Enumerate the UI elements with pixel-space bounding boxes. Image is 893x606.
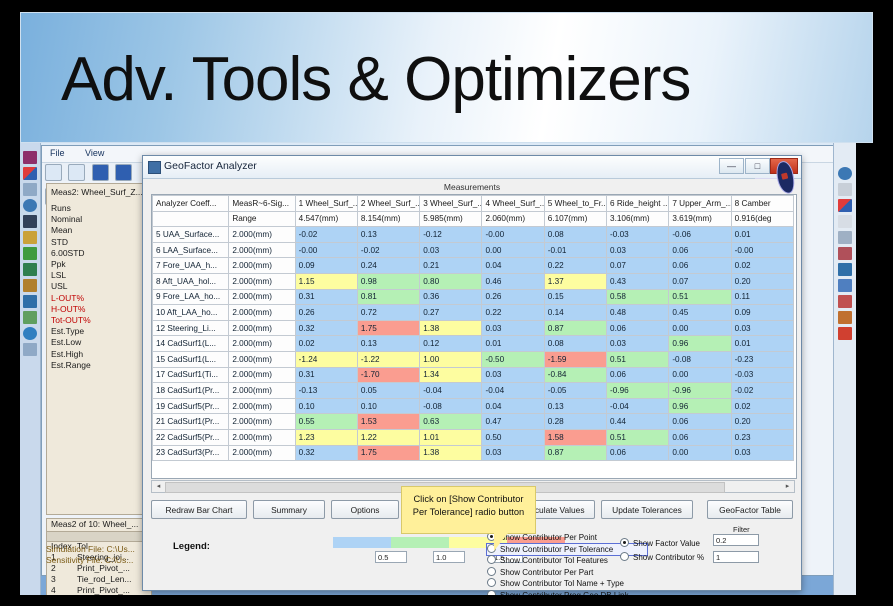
data-cell-1[interactable]: -0.02 xyxy=(357,242,419,258)
column-header-3[interactable]: 2 Wheel_Surf_... xyxy=(357,196,419,212)
callout-line-1: Click on [Show Contributor xyxy=(402,493,535,506)
data-cell-3[interactable]: 0.03 xyxy=(482,320,544,336)
rail-icon-wrench[interactable] xyxy=(23,343,37,356)
rail-icon-report[interactable] xyxy=(23,295,37,308)
data-cell-3[interactable]: 0.47 xyxy=(482,414,544,430)
row-label: 5 UAA_Surface... xyxy=(153,227,229,243)
filter-label: Filter xyxy=(733,525,750,534)
row-tol: Print_Pivot_... xyxy=(77,585,130,595)
data-cell-1[interactable]: 0.13 xyxy=(357,227,419,243)
radio-label: Show Contributor Per Part xyxy=(500,568,593,577)
row-range: 2.000(mm) xyxy=(229,273,295,289)
geofactor-analyzer-dialog: GeoFactor Analyzer — □ X Measurements An… xyxy=(142,155,802,591)
update-tolerances-button[interactable]: Update Tolerances xyxy=(601,500,693,519)
data-cell-4[interactable]: -0.84 xyxy=(544,367,606,383)
data-cell-6[interactable]: 0.07 xyxy=(669,273,731,289)
data-cell-4[interactable]: 0.15 xyxy=(544,289,606,305)
data-cell-3[interactable]: 0.46 xyxy=(482,273,544,289)
column-subheader-8: 3.619(mm) xyxy=(669,211,731,227)
data-cell-5[interactable]: 0.51 xyxy=(607,429,669,445)
row-range: 2.000(mm) xyxy=(229,289,295,305)
dialog-title: GeoFactor Analyzer xyxy=(164,160,257,172)
data-cell-6[interactable]: 0.45 xyxy=(669,305,731,321)
row-range: 2.000(mm) xyxy=(229,445,295,461)
scroll-right-arrow-icon[interactable]: ▸ xyxy=(782,482,793,491)
left-icon-rail[interactable] xyxy=(20,143,41,595)
data-cell-7[interactable]: -0.02 xyxy=(731,383,793,399)
data-cell-5[interactable]: 0.58 xyxy=(607,289,669,305)
data-cell-3[interactable]: 0.04 xyxy=(482,258,544,274)
data-cell-5[interactable]: 0.43 xyxy=(607,273,669,289)
statistics-panel-header: Meas2: Wheel_Surf_Z... xyxy=(47,184,151,203)
row-label: 10 Aft_LAA_ho... xyxy=(153,305,229,321)
data-cell-6[interactable]: 0.06 xyxy=(669,429,731,445)
data-cell-5[interactable]: 0.03 xyxy=(607,336,669,352)
row-tol: Tie_rod_Len... xyxy=(77,574,132,584)
data-cell-1[interactable]: 0.05 xyxy=(357,383,419,399)
data-cell-7[interactable]: 0.23 xyxy=(731,429,793,445)
legend-tick-0[interactable]: 0.5 xyxy=(375,551,407,563)
row-range: 2.000(mm) xyxy=(229,305,295,321)
data-cell-0[interactable]: 0.02 xyxy=(295,336,357,352)
rail-icon-window-right[interactable] xyxy=(838,263,852,276)
data-cell-2[interactable]: 1.00 xyxy=(420,351,482,367)
rail-icon-tools[interactable] xyxy=(23,231,37,244)
data-cell-0[interactable]: 0.09 xyxy=(295,258,357,274)
column-header-5[interactable]: 4 Wheel_Surf_... xyxy=(482,196,544,212)
data-cell-1[interactable]: 0.72 xyxy=(357,305,419,321)
data-cell-3[interactable]: 0.00 xyxy=(482,242,544,258)
data-cell-6[interactable]: -0.08 xyxy=(669,351,731,367)
rail-icon-exit-right[interactable] xyxy=(838,327,852,340)
data-cell-2[interactable]: 0.63 xyxy=(420,414,482,430)
data-cell-1[interactable]: 1.75 xyxy=(357,445,419,461)
data-cell-0[interactable]: 0.31 xyxy=(295,367,357,383)
radio-contributor-5[interactable]: Show Contributor Prog Geo DB Link xyxy=(487,590,647,596)
rail-icon-info[interactable] xyxy=(23,327,37,340)
legend-label: Legend: xyxy=(173,541,210,552)
data-cell-6[interactable]: 0.00 xyxy=(669,367,731,383)
radio-label: Show Contributor Tol Features xyxy=(500,556,608,565)
data-cell-0[interactable]: 0.32 xyxy=(295,320,357,336)
data-cell-3[interactable]: -0.00 xyxy=(482,227,544,243)
radio-contributor-3[interactable]: Show Contributor Per Part xyxy=(487,567,647,579)
data-cell-6[interactable]: 0.96 xyxy=(669,336,731,352)
dialog-title-bar[interactable]: GeoFactor Analyzer — □ X xyxy=(143,156,801,179)
data-cell-5[interactable]: 0.06 xyxy=(607,367,669,383)
data-cell-3[interactable]: 0.26 xyxy=(482,289,544,305)
instruction-callout: Click on [Show Contributor Per Tolerance… xyxy=(401,486,536,534)
row-range: 2.000(mm) xyxy=(229,383,295,399)
data-cell-7[interactable]: 0.02 xyxy=(731,258,793,274)
row-label: 22 CadSurf5(Pr... xyxy=(153,429,229,445)
data-cell-7[interactable]: 0.01 xyxy=(731,227,793,243)
legend-swatch-green xyxy=(391,537,449,548)
rail-icon-image[interactable] xyxy=(23,311,37,324)
data-cell-2[interactable]: 1.01 xyxy=(420,429,482,445)
row-range: 2.000(mm) xyxy=(229,242,295,258)
data-cell-2[interactable]: -0.12 xyxy=(420,227,482,243)
column-header-8[interactable]: 7 Upper_Arm_... xyxy=(669,196,731,212)
data-cell-2[interactable]: 0.80 xyxy=(420,273,482,289)
callout-line-2: Per Tolerance] radio button xyxy=(402,506,535,519)
data-cell-0[interactable]: -0.00 xyxy=(295,242,357,258)
rail-icon-check[interactable] xyxy=(23,247,37,260)
data-cell-2[interactable]: -0.08 xyxy=(420,398,482,414)
row-range: 2.000(mm) xyxy=(229,320,295,336)
data-cell-1[interactable]: -1.70 xyxy=(357,367,419,383)
row-range: 2.000(mm) xyxy=(229,414,295,430)
table-row[interactable]: 22 CadSurf5(Pr...2.000(mm)1.231.221.010.… xyxy=(153,429,794,445)
table-header-row-2: Range4.547(mm)8.154(mm)5.985(mm)2.060(mm… xyxy=(153,211,794,227)
table-row[interactable]: 12 Steering_Li...2.000(mm)0.321.751.380.… xyxy=(153,320,794,336)
panel-horizontal-scrollbar[interactable] xyxy=(46,531,152,542)
toolbar-icon-barchart[interactable] xyxy=(68,164,85,181)
toolbar-icon-histogram[interactable] xyxy=(45,164,62,181)
data-cell-5[interactable]: -0.04 xyxy=(607,398,669,414)
radio-label: Show Contributor Prog Geo DB Link xyxy=(500,591,629,596)
data-cell-2[interactable]: 0.27 xyxy=(420,305,482,321)
column-subheader-9: 0.916(deg xyxy=(731,211,793,227)
data-cell-2[interactable]: 0.12 xyxy=(420,336,482,352)
data-cell-1[interactable]: 1.53 xyxy=(357,414,419,430)
data-cell-2[interactable]: 1.34 xyxy=(420,367,482,383)
data-cell-6[interactable]: -0.96 xyxy=(669,383,731,399)
column-header-2[interactable]: 1 Wheel_Surf_... xyxy=(295,196,357,212)
data-cell-4[interactable]: 1.37 xyxy=(544,273,606,289)
options-button[interactable]: Options xyxy=(331,500,399,519)
data-cell-6[interactable]: 0.00 xyxy=(669,320,731,336)
data-cell-0[interactable]: 0.10 xyxy=(295,398,357,414)
data-cell-2[interactable]: 1.38 xyxy=(420,445,482,461)
row-label: 19 CadSurf5(Pr... xyxy=(153,398,229,414)
rail-icon-globe-right[interactable] xyxy=(838,167,852,180)
stat-runs: Runs xyxy=(47,203,151,214)
stat-tot-out-pct: Tot-OUT% xyxy=(47,315,151,326)
data-cell-1[interactable]: -1.22 xyxy=(357,351,419,367)
table-row[interactable]: 15 CadSurf1(L...2.000(mm)-1.24-1.221.00-… xyxy=(153,351,794,367)
data-cell-3[interactable]: 0.04 xyxy=(482,398,544,414)
data-cell-3[interactable]: -0.04 xyxy=(482,383,544,399)
data-cell-1[interactable]: 0.13 xyxy=(357,336,419,352)
data-cell-3[interactable]: 0.50 xyxy=(482,429,544,445)
column-header-4[interactable]: 3 Wheel_Surf_... xyxy=(420,196,482,212)
data-cell-3[interactable]: -0.50 xyxy=(482,351,544,367)
data-cell-4[interactable]: -0.01 xyxy=(544,242,606,258)
data-cell-5[interactable]: -0.96 xyxy=(607,383,669,399)
stat-l-out-pct: L-OUT% xyxy=(47,293,151,304)
data-cell-4[interactable]: 0.14 xyxy=(544,305,606,321)
column-subheader-6: 6.107(mm) xyxy=(544,211,606,227)
pointer-marker-dot xyxy=(781,173,788,180)
data-cell-4[interactable]: 0.87 xyxy=(544,320,606,336)
stat-ppk: Ppk xyxy=(47,259,151,270)
list-item[interactable]: 4Print_Pivot_... xyxy=(47,585,151,595)
stat-nominal: Nominal xyxy=(47,214,151,225)
data-cell-4[interactable]: 0.08 xyxy=(544,336,606,352)
stat-est-type: Est.Type xyxy=(47,326,151,337)
table-row[interactable]: 8 Aft_UAA_hol...2.000(mm)1.150.980.800.4… xyxy=(153,273,794,289)
slide-title-banner: Adv. Tools & Optimizers xyxy=(20,12,873,143)
data-cell-6[interactable]: 0.96 xyxy=(669,398,731,414)
data-cell-5[interactable]: 0.07 xyxy=(607,258,669,274)
minimize-button[interactable]: — xyxy=(719,158,744,174)
right-icon-rail[interactable] xyxy=(833,143,856,595)
column-header-1[interactable]: MeasR~6-Sig... xyxy=(229,196,295,212)
table-row[interactable]: 18 CadSurf1(Pr...2.000(mm)-0.130.05-0.04… xyxy=(153,383,794,399)
data-cell-4[interactable]: 1.58 xyxy=(544,429,606,445)
stat-usl: USL xyxy=(47,281,151,292)
column-header-9[interactable]: 8 Camber xyxy=(731,196,793,212)
geofactor-table[interactable]: Analyzer Coeff...MeasR~6-Sig...1 Wheel_S… xyxy=(151,194,797,479)
radio-contributor-4[interactable]: Show Contributor Tol Name + Type xyxy=(487,578,647,590)
data-cell-1[interactable]: 0.81 xyxy=(357,289,419,305)
scroll-left-arrow-icon[interactable]: ◂ xyxy=(153,482,164,491)
column-header-0[interactable]: Analyzer Coeff... xyxy=(153,196,229,212)
data-cell-6[interactable]: 0.06 xyxy=(669,414,731,430)
coefficient-grid: Analyzer Coeff...MeasR~6-Sig...1 Wheel_S… xyxy=(152,195,794,461)
redraw-bar-chart-button[interactable]: Redraw Bar Chart xyxy=(151,500,247,519)
row-range: 2.000(mm) xyxy=(229,336,295,352)
data-cell-4[interactable]: 0.28 xyxy=(544,414,606,430)
column-subheader-3: 8.154(mm) xyxy=(357,211,419,227)
data-cell-6[interactable]: 0.00 xyxy=(669,445,731,461)
row-label: 21 CadSurf1(Pr... xyxy=(153,414,229,430)
stat-6std: 6.00STD xyxy=(47,248,151,259)
stat-h-out-pct: H-OUT% xyxy=(47,304,151,315)
data-cell-1[interactable]: 1.22 xyxy=(357,429,419,445)
radio-label: Show Factor Value xyxy=(633,539,700,548)
row-range: 2.000(mm) xyxy=(229,227,295,243)
legend-tick-1[interactable]: 1.0 xyxy=(433,551,465,563)
row-range: 2.000(mm) xyxy=(229,429,295,445)
column-subheader-2: 4.547(mm) xyxy=(295,211,357,227)
radio-label: Show Contributor % xyxy=(633,553,704,562)
statistics-panel[interactable]: Meas2: Wheel_Surf_Z... Runs Nominal Mean… xyxy=(46,183,152,515)
rail-icon-chart[interactable] xyxy=(23,151,37,164)
radio-label: Show Contributor Per Point xyxy=(500,533,597,542)
data-cell-2[interactable]: 0.21 xyxy=(420,258,482,274)
data-cell-3[interactable]: 0.03 xyxy=(482,367,544,383)
rail-icon-run[interactable] xyxy=(23,263,37,276)
data-cell-1[interactable]: 0.24 xyxy=(357,258,419,274)
data-cell-2[interactable]: 1.38 xyxy=(420,320,482,336)
data-cell-1[interactable]: 1.75 xyxy=(357,320,419,336)
rail-icon-user-right[interactable] xyxy=(838,247,852,260)
data-cell-7[interactable]: 0.09 xyxy=(731,305,793,321)
data-cell-6[interactable]: -0.06 xyxy=(669,227,731,243)
data-cell-0[interactable]: 0.32 xyxy=(295,445,357,461)
data-cell-4[interactable]: 0.13 xyxy=(544,398,606,414)
table-row[interactable]: 23 CadSurf3(Pr...2.000(mm)0.321.751.380.… xyxy=(153,445,794,461)
data-cell-6[interactable]: 0.06 xyxy=(669,258,731,274)
data-cell-7[interactable]: 0.20 xyxy=(731,273,793,289)
stat-est-high: Est.High xyxy=(47,349,151,360)
radio-icon xyxy=(487,555,496,564)
background-app-window: File View Meas2: Wheel_Surf_Z... Runs No… xyxy=(41,145,859,576)
callout-tail xyxy=(494,533,508,551)
rail-icon-pencil-right[interactable] xyxy=(838,183,852,196)
row-label: 23 CadSurf3(Pr... xyxy=(153,445,229,461)
data-cell-7[interactable]: -0.03 xyxy=(731,367,793,383)
legend-swatch-blue xyxy=(333,537,391,548)
data-cell-3[interactable]: 0.01 xyxy=(482,336,544,352)
list-item[interactable]: 3Tie_rod_Len... xyxy=(47,574,151,585)
menu-view[interactable]: View xyxy=(85,148,104,158)
rail-icon-text-right[interactable] xyxy=(838,215,852,228)
row-label: 6 LAA_Surface... xyxy=(153,242,229,258)
screenshot-right-edge xyxy=(856,143,873,595)
rail-icon-color-right[interactable] xyxy=(838,199,852,212)
data-cell-7[interactable]: 0.03 xyxy=(731,320,793,336)
data-cell-2[interactable]: 0.03 xyxy=(420,242,482,258)
rail-icon-binoculars[interactable] xyxy=(23,215,37,228)
radio-label: Show Contributor Tol Name + Type xyxy=(500,579,624,588)
data-cell-0[interactable]: -0.13 xyxy=(295,383,357,399)
rail-icon-palette[interactable] xyxy=(23,167,37,180)
rail-icon-grid[interactable] xyxy=(23,183,37,196)
data-cell-2[interactable]: -0.04 xyxy=(420,383,482,399)
row-index: 3 xyxy=(51,574,77,585)
row-range: 2.000(mm) xyxy=(229,398,295,414)
tolerance-list-header: Meas2 of 10: Wheel_... xyxy=(47,519,151,530)
row-label: 9 Fore_LAA_ho... xyxy=(153,289,229,305)
data-cell-2[interactable]: 0.36 xyxy=(420,289,482,305)
data-cell-5[interactable]: 0.06 xyxy=(607,320,669,336)
data-cell-0[interactable]: -1.24 xyxy=(295,351,357,367)
data-cell-7[interactable]: 0.11 xyxy=(731,289,793,305)
rail-icon-mesh-right[interactable] xyxy=(838,231,852,244)
data-cell-7[interactable]: 0.20 xyxy=(731,414,793,430)
row-range: 2.000(mm) xyxy=(229,258,295,274)
table-row[interactable]: 17 CadSurf1(Ti...2.000(mm)0.31-1.701.340… xyxy=(153,367,794,383)
row-index: 4 xyxy=(51,585,77,595)
data-cell-3[interactable]: 0.03 xyxy=(482,445,544,461)
data-cell-6[interactable]: 0.51 xyxy=(669,289,731,305)
column-header-7[interactable]: 6 Ride_height ... xyxy=(607,196,669,212)
data-cell-0[interactable]: 1.15 xyxy=(295,273,357,289)
table-header-row-1: Analyzer Coeff...MeasR~6-Sig...1 Wheel_S… xyxy=(153,196,794,212)
stat-mean: Mean xyxy=(47,225,151,236)
data-cell-4[interactable]: -1.59 xyxy=(544,351,606,367)
data-cell-5[interactable]: 0.51 xyxy=(607,351,669,367)
row-label: 8 Aft_UAA_hol... xyxy=(153,273,229,289)
row-label: 15 CadSurf1(L... xyxy=(153,351,229,367)
table-body: 5 UAA_Surface...2.000(mm)-0.020.13-0.12-… xyxy=(153,227,794,461)
toolbar-icon-arrow-right[interactable] xyxy=(115,164,132,181)
table-row[interactable]: 5 UAA_Surface...2.000(mm)-0.020.13-0.12-… xyxy=(153,227,794,243)
column-subheader-7: 3.106(mm) xyxy=(607,211,669,227)
data-cell-7[interactable]: 0.03 xyxy=(731,445,793,461)
data-cell-7[interactable]: 0.02 xyxy=(731,398,793,414)
data-cell-4[interactable]: -0.05 xyxy=(544,383,606,399)
stat-lsl: LSL xyxy=(47,270,151,281)
radio-icon xyxy=(487,590,496,596)
table-row[interactable]: 21 CadSurf1(Pr...2.000(mm)0.551.530.630.… xyxy=(153,414,794,430)
data-cell-0[interactable]: 0.55 xyxy=(295,414,357,430)
rail-icon-sheet-right[interactable] xyxy=(838,295,852,308)
screenshot-region: File View Meas2: Wheel_Surf_Z... Runs No… xyxy=(20,143,873,595)
data-cell-0[interactable]: 0.26 xyxy=(295,305,357,321)
filter-contributor-input[interactable]: 1 xyxy=(713,551,759,563)
stat-est-low: Est.Low xyxy=(47,337,151,348)
data-cell-0[interactable]: 0.31 xyxy=(295,289,357,305)
stat-std: STD xyxy=(47,237,151,248)
data-cell-5[interactable]: 0.48 xyxy=(607,305,669,321)
data-cell-4[interactable]: 0.87 xyxy=(544,445,606,461)
data-cell-5[interactable]: 0.44 xyxy=(607,414,669,430)
filter-factor-input[interactable]: 0.2 xyxy=(713,534,759,546)
data-cell-7[interactable]: -0.00 xyxy=(731,242,793,258)
data-cell-7[interactable]: -0.23 xyxy=(731,351,793,367)
row-label: 12 Steering_Li... xyxy=(153,320,229,336)
data-cell-6[interactable]: 0.06 xyxy=(669,242,731,258)
rail-icon-globe[interactable] xyxy=(23,199,37,212)
row-label: 14 CadSurf1(L... xyxy=(153,336,229,352)
stat-est-range: Est.Range xyxy=(47,360,151,371)
app-toolbar[interactable] xyxy=(44,163,142,181)
menu-file[interactable]: File xyxy=(50,148,65,158)
summary-button[interactable]: Summary xyxy=(253,500,325,519)
table-row[interactable]: 9 Fore_LAA_ho...2.000(mm)0.310.810.360.2… xyxy=(153,289,794,305)
data-cell-0[interactable]: -0.02 xyxy=(295,227,357,243)
table-row[interactable]: 6 LAA_Surface...2.000(mm)-0.00-0.020.030… xyxy=(153,242,794,258)
data-cell-7[interactable]: 0.01 xyxy=(731,336,793,352)
table-row[interactable]: 10 Aft_LAA_ho...2.000(mm)0.260.720.270.2… xyxy=(153,305,794,321)
rail-icon-table-right[interactable] xyxy=(838,279,852,292)
radio-icon xyxy=(620,552,629,561)
column-header-6[interactable]: 5 Wheel_to_Fr... xyxy=(544,196,606,212)
data-cell-0[interactable]: 1.23 xyxy=(295,429,357,445)
row-label: 7 Fore_UAA_h... xyxy=(153,258,229,274)
page-title: Adv. Tools & Optimizers xyxy=(61,47,690,113)
rail-icon-media-right[interactable] xyxy=(838,311,852,324)
row-range: 2.000(mm) xyxy=(229,351,295,367)
column-subheader-0 xyxy=(153,211,229,227)
data-cell-5[interactable]: 0.06 xyxy=(607,445,669,461)
data-cell-1[interactable]: 0.98 xyxy=(357,273,419,289)
rail-icon-camera[interactable] xyxy=(23,279,37,292)
data-cell-4[interactable]: 0.08 xyxy=(544,227,606,243)
row-label: 17 CadSurf1(Ti... xyxy=(153,367,229,383)
row-range: 2.000(mm) xyxy=(229,367,295,383)
toolbar-icon-arrow-left[interactable] xyxy=(92,164,109,181)
radio-icon xyxy=(487,578,496,587)
data-cell-5[interactable]: 0.03 xyxy=(607,242,669,258)
radio-icon xyxy=(620,538,629,547)
radio-label: Show Contributor Per Tolerance xyxy=(500,545,613,554)
data-cell-5[interactable]: -0.03 xyxy=(607,227,669,243)
maximize-button[interactable]: □ xyxy=(745,158,770,174)
slide-root: Adv. Tools & Optimizers File View xyxy=(0,0,893,606)
data-cell-1[interactable]: 0.10 xyxy=(357,398,419,414)
column-subheader-5: 2.060(mm) xyxy=(482,211,544,227)
table-row[interactable]: 7 Fore_UAA_h...2.000(mm)0.090.240.210.04… xyxy=(153,258,794,274)
geofactor-table-button[interactable]: GeoFactor Table xyxy=(707,500,793,519)
data-cell-3[interactable]: 0.22 xyxy=(482,305,544,321)
table-row[interactable]: 19 CadSurf5(Pr...2.000(mm)0.100.10-0.080… xyxy=(153,398,794,414)
radio-icon xyxy=(487,567,496,576)
data-cell-4[interactable]: 0.22 xyxy=(544,258,606,274)
app-window-icon xyxy=(148,161,161,174)
table-row[interactable]: 14 CadSurf1(L...2.000(mm)0.020.130.120.0… xyxy=(153,336,794,352)
row-label: 18 CadSurf1(Pr... xyxy=(153,383,229,399)
column-subheader-4: 5.985(mm) xyxy=(420,211,482,227)
column-subheader-1: Range xyxy=(229,211,295,227)
measurements-label: Measurements xyxy=(143,182,801,192)
